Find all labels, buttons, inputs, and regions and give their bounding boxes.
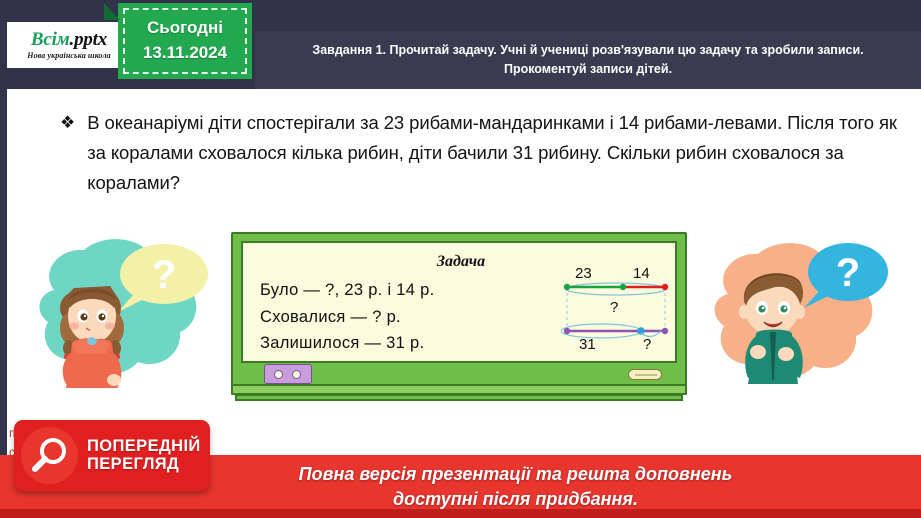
logo-subtitle: Нова українська школа: [27, 51, 111, 60]
diagram-top-brace: [566, 283, 666, 295]
preview-badge-line2: ПЕРЕГЛЯД: [87, 456, 201, 474]
preview-badge-line1: ПОПЕРЕДНІЙ: [87, 438, 201, 456]
left-edge-strip: [0, 0, 7, 518]
slide-root: Всім.pptx Нова українська школа Сьогодні…: [0, 0, 921, 518]
date-badge-value: 13.11.2024: [143, 41, 227, 66]
logo-wordmark: Всім.pptx: [31, 30, 107, 49]
purchase-notice-line1: Повна версія презентації та решта доповн…: [299, 462, 733, 486]
task-header-panel: Завдання 1. Прочитай задачу. Учні й учен…: [255, 31, 921, 89]
diagram-point-green-start: [564, 284, 570, 290]
preview-badge-label: ПОПЕРЕДНІЙ ПЕРЕГЛЯД: [87, 438, 201, 474]
purchase-notice-line2: доступні після придбання.: [299, 487, 733, 511]
chalk-stick-icon: [628, 369, 662, 380]
diamond-bullet-icon: ❖: [60, 109, 75, 198]
preview-badge[interactable]: ПОПЕРЕДНІЙ ПЕРЕГЛЯД: [14, 420, 210, 491]
classroom-board: Задача Було — ?, 23 р. і 14 р. Сховалися…: [231, 232, 687, 404]
diagram-point-purple-start: [564, 328, 570, 334]
problem-statement-text: В океанаріумі діти спостерігали за 23 ри…: [87, 108, 900, 198]
board-line: Було — ?, 23 р. і 14 р.: [260, 277, 560, 304]
date-badge-label: Сьогодні: [147, 16, 223, 41]
purchase-notice-text: Повна версія презентації та решта доповн…: [299, 462, 733, 511]
magnifier-icon: [21, 427, 78, 484]
board-line: Залишилося — 31 р.: [260, 330, 560, 357]
segment-diagram: 23 14 ? 31 ?: [561, 265, 673, 365]
board-line: Сховалися — ? р.: [260, 304, 560, 331]
task-header-text: Завдання 1. Прочитай задачу. Учні й учен…: [255, 41, 921, 80]
problem-statement: ❖ В океанаріумі діти спостерігали за 23 …: [60, 108, 900, 198]
bubble-question-mark: ?: [836, 251, 860, 295]
board-ledge-lower: [235, 394, 683, 401]
board-solution-lines: Було — ?, 23 р. і 14 р. Сховалися — ? р.…: [260, 277, 560, 357]
logo-wordmark-suffix: .pptx: [70, 29, 108, 50]
diagram-point-purple-end: [662, 328, 668, 334]
diagram-point-red-end: [662, 284, 668, 290]
boy-thinking-illustration: ?: [700, 228, 906, 406]
logo-wordmark-prefix: Всім: [31, 29, 70, 50]
bubble-question-mark: ?: [152, 253, 176, 297]
diagram-point-green-end: [620, 284, 626, 290]
girl-figure: [60, 286, 124, 388]
girl-thinking-illustration: ?: [14, 228, 226, 406]
eraser-sponge-icon: [264, 364, 312, 384]
date-badge: Сьогодні 13.11.2024: [118, 3, 252, 79]
site-logo: Всім.pptx Нова українська школа: [7, 22, 131, 68]
board-surface: Задача Було — ?, 23 р. і 14 р. Сховалися…: [241, 241, 677, 363]
